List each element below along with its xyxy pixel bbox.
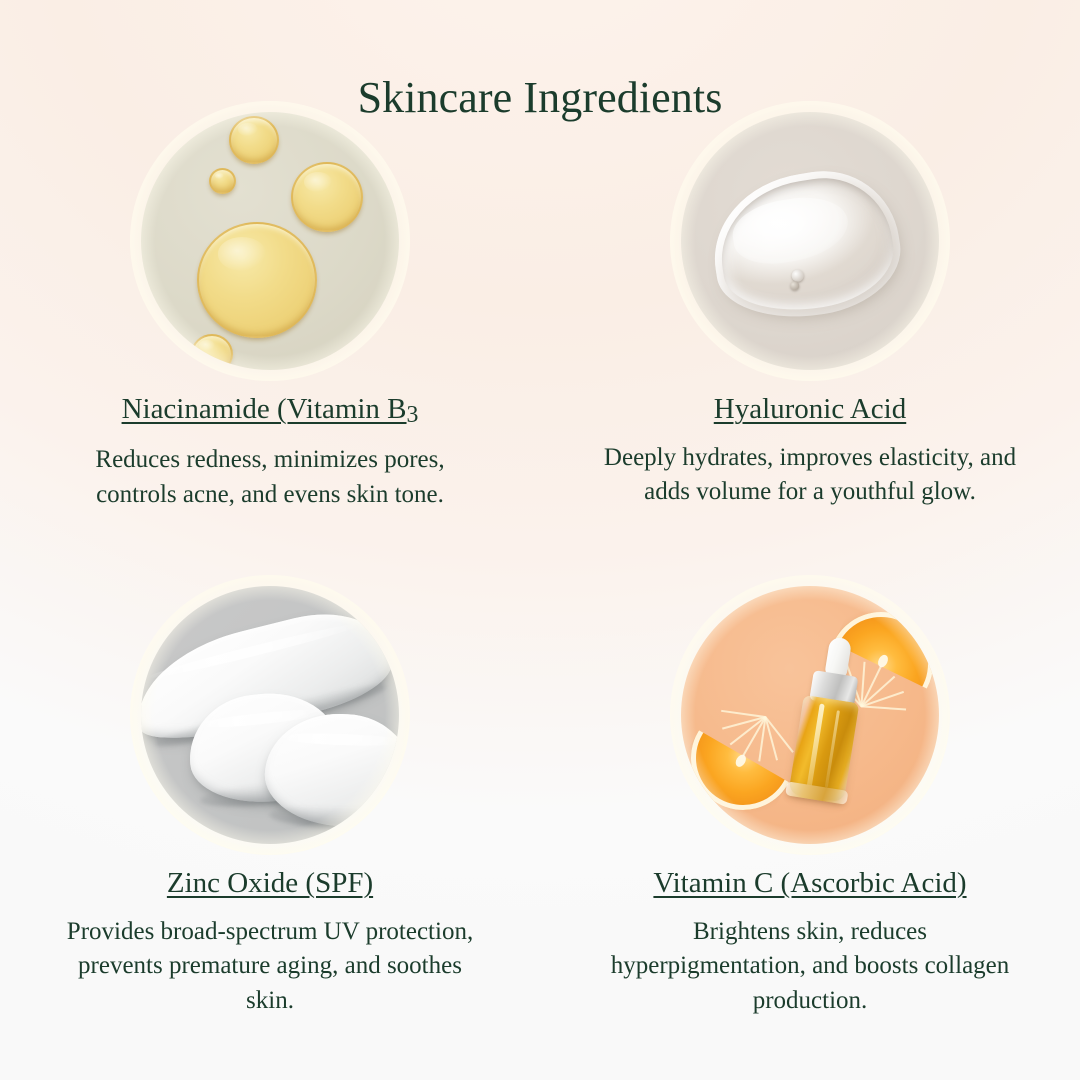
oil-droplet-medium xyxy=(291,162,363,232)
ingredient-image-vitamin-c-serum xyxy=(681,586,939,844)
oil-droplet-edge xyxy=(191,334,233,370)
ingredient-title-zinc-oxide: Zinc Oxide (SPF) xyxy=(20,866,520,901)
ingredient-card-vitamin-c: Vitamin C (Ascorbic Acid) Brightens skin… xyxy=(540,578,1080,1018)
droplet-highlight xyxy=(304,172,333,192)
ingredient-title-subscript: 3 xyxy=(407,401,419,430)
bottle-highlight xyxy=(806,703,824,789)
oil-droplet-large xyxy=(197,222,317,338)
ingredient-title-text: Niacinamide (Vitamin B xyxy=(122,393,407,425)
ingredient-image-clear-gel xyxy=(681,112,939,370)
serum-dropper-bottle xyxy=(785,635,871,803)
oil-droplet-small xyxy=(209,168,236,194)
skincare-ingredients-poster: Skincare Ingredients Niacinamide (Vitami… xyxy=(0,0,1080,1080)
white-cream-swatch-photo xyxy=(141,586,399,844)
ingredient-image-cream-swatch xyxy=(141,586,399,844)
droplet-highlight xyxy=(218,237,267,271)
ingredient-title-hyaluronic-acid: Hyaluronic Acid xyxy=(560,392,1060,427)
droplet-highlight xyxy=(238,123,257,136)
cream-ridge xyxy=(148,620,362,682)
ingredient-card-hyaluronic-acid: Hyaluronic Acid Deeply hydrates, improve… xyxy=(540,104,1080,510)
droplet-highlight xyxy=(199,340,215,351)
cream-ridge xyxy=(278,732,399,748)
ingredient-description-zinc-oxide: Provides broad-spectrum UV protection, p… xyxy=(55,915,485,1019)
ingredient-title-niacinamide: Niacinamide (Vitamin B3 xyxy=(20,392,520,429)
ingredient-card-zinc-oxide: Zinc Oxide (SPF) Provides broad-spectrum… xyxy=(0,578,540,1018)
vitamin-c-serum-orange-photo xyxy=(681,586,939,844)
oil-droplet-top xyxy=(229,116,279,164)
ingredient-description-hyaluronic-acid: Deeply hydrates, improves elasticity, an… xyxy=(600,441,1020,510)
ingredient-grid: Niacinamide (Vitamin B3 Reduces redness,… xyxy=(0,104,1080,1080)
ingredient-image-oil-droplets xyxy=(141,112,399,370)
gel-blob xyxy=(703,160,909,329)
ingredient-title-vitamin-c: Vitamin C (Ascorbic Acid) xyxy=(560,866,1060,901)
droplet-highlight xyxy=(215,173,225,180)
oil-droplets-photo xyxy=(141,112,399,370)
ingredient-title-text: Hyaluronic Acid xyxy=(714,393,906,425)
ingredient-title-text: Vitamin C (Ascorbic Acid) xyxy=(653,867,966,899)
cream-shadow xyxy=(269,803,399,830)
orange-segment xyxy=(861,706,906,711)
orange-segment xyxy=(721,710,766,718)
ingredient-description-niacinamide: Reduces redness, minimizes pores, contro… xyxy=(70,443,470,512)
ingredient-description-vitamin-c: Brightens skin, reduces hyperpigmentatio… xyxy=(604,915,1016,1019)
ingredient-title-text: Zinc Oxide (SPF) xyxy=(167,867,373,899)
ingredient-card-niacinamide: Niacinamide (Vitamin B3 Reduces redness,… xyxy=(0,104,540,512)
bottle-highlight-secondary xyxy=(825,710,841,788)
clear-gel-droplet-photo xyxy=(681,112,939,370)
